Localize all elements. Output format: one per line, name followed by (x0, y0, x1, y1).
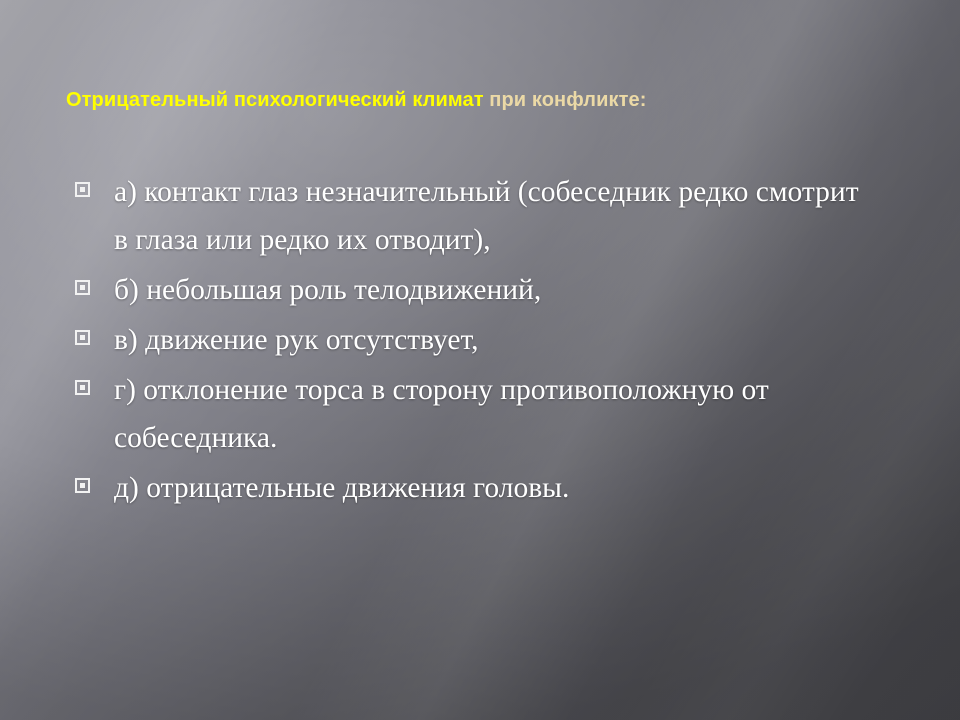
list-item-text: г) отклонение торса в сторону противопол… (114, 366, 870, 462)
list-item: д) отрицательные движения головы. (70, 464, 870, 512)
list-item: б) небольшая роль телодвижений, (70, 266, 870, 314)
square-bullet-icon (75, 330, 90, 345)
list-item: г) отклонение торса в сторону противопол… (70, 366, 870, 462)
square-bullet-icon (75, 478, 90, 493)
slide-title-rest: при конфликте: (484, 89, 647, 111)
list-item: а) контакт глаз незначительный (собеседн… (70, 168, 870, 264)
square-bullet-icon (75, 380, 90, 395)
list-item-text: а) контакт глаз незначительный (собеседн… (114, 168, 870, 264)
list-item-text: в) движение рук отсутствует, (114, 316, 870, 364)
list-item: в) движение рук отсутствует, (70, 316, 870, 364)
slide-body-list: а) контакт глаз незначительный (собеседн… (70, 168, 870, 514)
slide-canvas: Отрицательный психологический климат при… (0, 0, 960, 720)
slide-title-highlight: Отрицательный психологический климат (66, 89, 484, 111)
square-bullet-icon (75, 280, 90, 295)
list-item-text: б) небольшая роль телодвижений, (114, 266, 870, 314)
list-item-text: д) отрицательные движения головы. (114, 464, 870, 512)
square-bullet-icon (75, 182, 90, 197)
slide-title: Отрицательный психологический климат при… (66, 87, 926, 113)
